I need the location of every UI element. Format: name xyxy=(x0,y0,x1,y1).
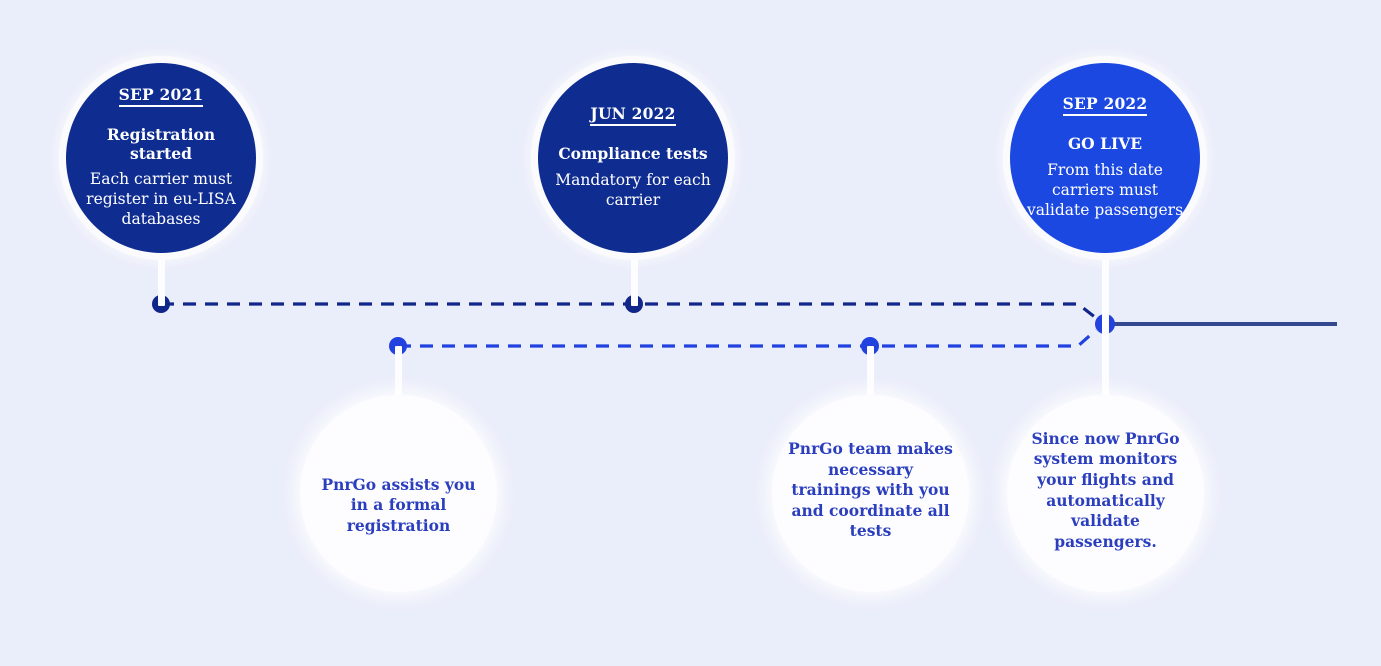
event-circle-compliance-tests[interactable]: JUN 2022 Compliance tests Mandatory for … xyxy=(538,63,728,253)
stem-jun-2022 xyxy=(631,248,638,306)
stem-registration-note xyxy=(395,346,402,398)
event-date: SEP 2021 xyxy=(119,86,204,107)
event-date: JUN 2022 xyxy=(590,105,675,126)
timeline-infographic: SEP 2021 Registration started Each carri… xyxy=(0,0,1381,666)
event-description: Each carrier must register in eu-LISA da… xyxy=(76,170,246,229)
note-text: Since now PnrGo system monitors your fli… xyxy=(1021,429,1190,553)
event-description: From this date carriers must validate pa… xyxy=(1020,161,1190,220)
stem-go-live xyxy=(1102,248,1109,396)
event-title: Compliance tests xyxy=(558,145,707,164)
note-circle-trainings-and-tests[interactable]: PnrGo team makes necessary trainings wit… xyxy=(772,395,969,592)
event-circle-go-live[interactable]: SEP 2022 GO LIVE From this date carriers… xyxy=(1010,63,1200,253)
stem-sep-2021 xyxy=(158,248,165,306)
stem-trainings-note xyxy=(867,346,874,398)
note-text: PnrGo assists you in a formal registrati… xyxy=(314,475,483,537)
event-date: SEP 2022 xyxy=(1063,95,1148,116)
event-circle-registration-started[interactable]: SEP 2021 Registration started Each carri… xyxy=(66,63,256,253)
note-text: PnrGo team makes necessary trainings wit… xyxy=(786,439,955,542)
note-circle-formal-registration[interactable]: PnrGo assists you in a formal registrati… xyxy=(300,395,497,592)
lower-dashed-track xyxy=(398,330,1096,346)
event-description: Mandatory for each carrier xyxy=(548,171,718,211)
event-title: Registration started xyxy=(76,126,246,163)
event-title: GO LIVE xyxy=(1068,135,1142,154)
note-circle-monitoring[interactable]: Since now PnrGo system monitors your fli… xyxy=(1007,395,1204,592)
